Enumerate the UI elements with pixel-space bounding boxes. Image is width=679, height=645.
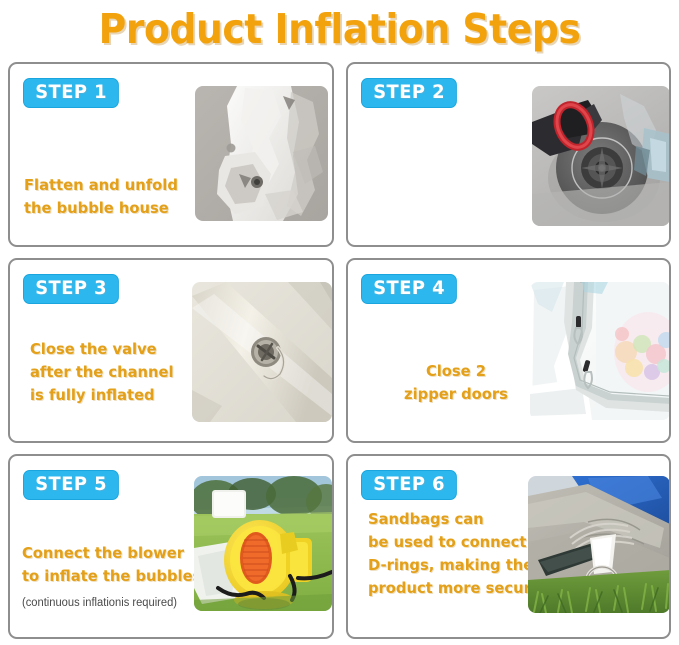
step-badge-3: STEP 3 [23, 274, 119, 304]
step-badge-2: STEP 2 [361, 78, 457, 108]
step-text-6: Sandbags can be used to connect D-rings,… [368, 508, 547, 600]
step-card-5: STEP 5 Connect the blower to inflate the… [8, 454, 334, 639]
infographic-page: Product Inflation Steps STEP 1 Flatten a… [0, 0, 679, 645]
step-card-2: STEP 2 The white channel has an inflatio… [346, 62, 672, 247]
d-ring-sandbag-anchor-photo [528, 476, 670, 613]
step-badge-4: STEP 4 [361, 274, 457, 304]
page-title: Product Inflation Steps [27, 0, 652, 58]
step-card-3: STEP 3 Close the valve after the channel… [8, 258, 334, 443]
step-text-3: Close the valve after the channel is ful… [30, 338, 196, 407]
step-card-4: STEP 4 Close 2 zipper doors [346, 258, 672, 443]
step-card-6: STEP 6 Sandbags can be used to connect D… [346, 454, 672, 639]
zipper-door-photo [530, 282, 670, 420]
steps-grid: STEP 1 Flatten and unfold the bubble hou… [8, 62, 671, 639]
air-pump-inflation-port-photo [532, 86, 670, 226]
yellow-blower-on-grass-photo [194, 476, 332, 611]
inflated-channel-valve-photo [192, 282, 332, 422]
step-badge-5: STEP 5 [23, 470, 119, 500]
step-text-4: Close 2 zipper doors [376, 360, 536, 406]
step-badge-1: STEP 1 [23, 78, 119, 108]
step-text-5: Connect the blower to inflate the bubble… [22, 542, 203, 588]
step-text-1: Flatten and unfold the bubble house [24, 174, 190, 220]
step-note-5: (continuous inflationis required) [22, 596, 216, 610]
step-card-1: STEP 1 Flatten and unfold the bubble hou… [8, 62, 334, 247]
step-badge-6: STEP 6 [361, 470, 457, 500]
folded-bubble-house-photo [195, 86, 328, 221]
